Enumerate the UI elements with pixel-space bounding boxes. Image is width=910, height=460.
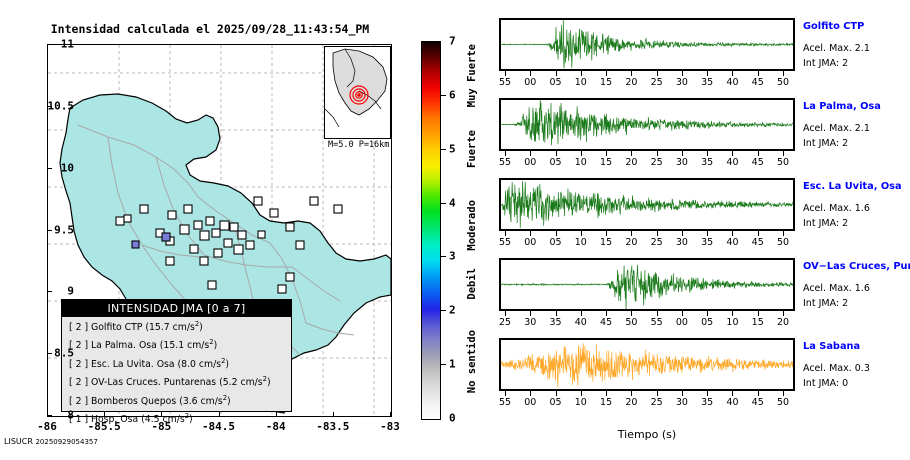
time-tick xyxy=(682,391,683,396)
legend-accel: (8.0 cm/s2) xyxy=(178,359,229,370)
time-tick xyxy=(581,71,582,76)
map-y-tick: 9 xyxy=(14,285,74,298)
time-tick xyxy=(657,151,658,156)
time-tick-label: 50 xyxy=(768,397,798,408)
station-name-label: OV−Las Cruces, Puntar xyxy=(803,261,910,272)
time-tick xyxy=(682,71,683,76)
legend-row: [ 2 ]Golfito CTP (15.7 cm/s2) xyxy=(62,317,291,335)
colorbar-tick-label: 6 xyxy=(449,88,456,101)
time-tick xyxy=(556,151,557,156)
time-tick xyxy=(783,391,784,396)
time-tick xyxy=(732,391,733,396)
time-tick xyxy=(758,71,759,76)
map-x-tick: -83.5 xyxy=(303,420,363,433)
legend-accel: (15.1 cm/s2) xyxy=(160,340,217,351)
map-x-tick: -86 xyxy=(17,420,77,433)
seismogram-row: 253035404550550005101520OV−Las Cruces, P… xyxy=(490,258,910,338)
time-tick xyxy=(581,391,582,396)
time-tick xyxy=(707,391,708,396)
seismogram-row: 550005101520253035404550Esc. La Uvita, O… xyxy=(490,178,910,258)
y-tick-mark xyxy=(47,291,52,292)
peak-acceleration-label: Acel. Max. 0.3 xyxy=(803,363,870,374)
legend-count: [ 2 ] xyxy=(69,320,91,335)
time-tick xyxy=(505,391,506,396)
seismogram-time-axis: 253035404550550005101520 xyxy=(499,311,795,331)
map-y-tick: 10 xyxy=(14,161,74,174)
colorbar-category: Fuerte xyxy=(466,130,478,168)
map-title: Intensidad calculada el 2025/09/28_11:43… xyxy=(0,22,420,36)
legend-station: Bomberos Quepos xyxy=(91,396,176,407)
colorbar-tick-label: 7 xyxy=(449,35,456,48)
peak-acceleration-label: Acel. Max. 2.1 xyxy=(803,123,870,134)
seismogram-trace-box[interactable] xyxy=(499,338,795,391)
time-tick xyxy=(530,391,531,396)
station-name-label: La Palma, Osa xyxy=(803,101,881,112)
time-tick-label: 50 xyxy=(768,77,798,88)
legend-count: [ 2 ] xyxy=(69,394,91,409)
time-tick xyxy=(556,231,557,236)
time-tick xyxy=(732,311,733,316)
time-tick xyxy=(530,71,531,76)
time-tick xyxy=(581,311,582,316)
time-tick xyxy=(783,231,784,236)
intensity-colorbar xyxy=(421,41,441,420)
time-tick xyxy=(606,311,607,316)
map-y-tick: 10.5 xyxy=(14,99,74,112)
legend-station: La Palma. Osa xyxy=(91,340,157,351)
time-tick xyxy=(682,151,683,156)
time-tick xyxy=(631,151,632,156)
map-x-tick: -84.5 xyxy=(189,420,249,433)
seismogram-trace-box[interactable] xyxy=(499,98,795,151)
seismogram-row: 550005101520253035404550La SabanaAcel. M… xyxy=(490,338,910,418)
time-tick xyxy=(606,151,607,156)
colorbar-tick-label: 4 xyxy=(449,196,456,209)
colorbar-tick-label: 3 xyxy=(449,250,456,263)
seismogram-time-axis: 550005101520253035404550 xyxy=(499,231,795,251)
waveform-svg xyxy=(501,100,793,149)
locator-inset-map xyxy=(324,46,391,139)
time-tick xyxy=(732,231,733,236)
time-tick xyxy=(783,311,784,316)
time-tick xyxy=(505,311,506,316)
x-tick-mark xyxy=(161,412,162,417)
time-tick xyxy=(758,151,759,156)
jma-intensity-label: Int JMA: 2 xyxy=(803,58,848,69)
time-tick xyxy=(707,151,708,156)
footer-credit: LISUCR 20250929054357 xyxy=(4,437,98,446)
x-tick-mark xyxy=(390,412,391,417)
time-tick xyxy=(758,311,759,316)
y-tick-mark xyxy=(47,353,52,354)
colorbar-category: Moderado xyxy=(466,200,478,251)
time-tick xyxy=(758,231,759,236)
time-tick xyxy=(783,71,784,76)
jma-intensity-label: Int JMA: 0 xyxy=(803,378,848,389)
legend-accel: (3.6 cm/s2) xyxy=(179,396,230,407)
colorbar-tick xyxy=(441,364,446,365)
colorbar-tick xyxy=(441,310,446,311)
colorbar-tick xyxy=(441,203,446,204)
x-tick-mark xyxy=(47,412,48,417)
epicenter-marker xyxy=(350,86,368,104)
seismogram-trace-box[interactable] xyxy=(499,18,795,71)
peak-acceleration-label: Acel. Max. 2.1 xyxy=(803,43,870,54)
time-tick xyxy=(556,311,557,316)
colorbar-tick xyxy=(441,256,446,257)
time-tick xyxy=(631,391,632,396)
jma-intensity-label: Int JMA: 2 xyxy=(803,298,848,309)
seismogram-row: 550005101520253035404550La Palma, OsaAce… xyxy=(490,98,910,178)
time-tick xyxy=(631,231,632,236)
waveform-svg xyxy=(501,20,793,69)
time-tick xyxy=(530,311,531,316)
x-tick-mark xyxy=(219,412,220,417)
time-tick xyxy=(505,231,506,236)
time-tick xyxy=(581,151,582,156)
legend-station: OV-Las Cruces. Puntarenas xyxy=(91,377,216,388)
map-x-tick: -83 xyxy=(360,420,420,433)
colorbar-tick xyxy=(441,95,446,96)
peak-acceleration-label: Acel. Max. 1.6 xyxy=(803,283,870,294)
waveform-svg xyxy=(501,180,793,229)
colorbar-category: Muy Fuerte xyxy=(466,44,478,107)
map-y-tick: 8.5 xyxy=(14,347,74,360)
time-tick xyxy=(732,151,733,156)
time-tick xyxy=(707,231,708,236)
y-tick-mark xyxy=(47,230,52,231)
legend-row-list: [ 2 ]Golfito CTP (15.7 cm/s2)[ 2 ]La Pal… xyxy=(62,317,291,427)
seismogram-time-axis: 550005101520253035404550 xyxy=(499,71,795,91)
seismogram-trace-box[interactable] xyxy=(499,258,795,311)
x-tick-mark xyxy=(333,412,334,417)
legend-title: INTENSIDAD JMA [0 a 7] xyxy=(62,300,291,317)
station-name-label: La Sabana xyxy=(803,341,860,352)
time-tick xyxy=(505,151,506,156)
seismogram-trace-box[interactable] xyxy=(499,178,795,231)
time-tick xyxy=(530,151,531,156)
peak-acceleration-label: Acel. Max. 1.6 xyxy=(803,203,870,214)
intensity-legend: INTENSIDAD JMA [0 a 7] [ 2 ]Golfito CTP … xyxy=(61,299,292,412)
event-magnitude-label: M=5.0 P=16km xyxy=(328,140,389,150)
legend-accel: (15.7 cm/s2) xyxy=(145,322,202,333)
legend-row: [ 2 ]La Palma. Osa (15.1 cm/s2) xyxy=(62,335,291,353)
colorbar-tick-label: 2 xyxy=(449,304,456,317)
map-panel: Intensidad calculada el 2025/09/28_11:43… xyxy=(0,0,470,460)
time-tick xyxy=(657,391,658,396)
seismogram-panel: 550005101520253035404550Golfito CTPAcel.… xyxy=(490,0,910,460)
map-y-tick: 11 xyxy=(14,38,74,51)
map-x-tick: -84 xyxy=(246,420,306,433)
legend-accel: (5.2 cm/s2) xyxy=(219,377,270,388)
colorbar-tick-label: 5 xyxy=(449,142,456,155)
x-tick-mark xyxy=(104,412,105,417)
time-tick xyxy=(783,151,784,156)
time-tick xyxy=(707,71,708,76)
legend-station: Golfito CTP xyxy=(91,322,142,333)
station-name-label: Golfito CTP xyxy=(803,21,864,32)
time-tick xyxy=(556,391,557,396)
time-tick-label: 20 xyxy=(768,317,798,328)
y-tick-mark xyxy=(47,44,52,45)
legend-row: [ 2 ]Esc. La Uvita. Osa (8.0 cm/s2) xyxy=(62,354,291,372)
colorbar-tick-label: 1 xyxy=(449,358,456,371)
inset-svg xyxy=(325,47,390,138)
time-tick xyxy=(657,231,658,236)
time-tick xyxy=(530,231,531,236)
waveform-svg xyxy=(501,340,793,389)
time-tick xyxy=(505,71,506,76)
time-tick xyxy=(631,71,632,76)
seismogram-row: 550005101520253035404550Golfito CTPAcel.… xyxy=(490,18,910,98)
time-tick xyxy=(581,231,582,236)
seismogram-time-axis: 550005101520253035404550 xyxy=(499,391,795,411)
y-tick-mark xyxy=(47,168,52,169)
legend-row: [ 2 ]OV-Las Cruces. Puntarenas (5.2 cm/s… xyxy=(62,372,291,390)
x-tick-mark xyxy=(276,412,277,417)
time-tick xyxy=(682,231,683,236)
map-x-tick: -85.5 xyxy=(74,420,134,433)
timestamp-label: 20250929054357 xyxy=(35,438,97,446)
legend-count: [ 2 ] xyxy=(69,375,91,390)
waveform-svg xyxy=(501,260,793,309)
agency-label: LISUCR xyxy=(4,437,33,446)
time-tick-label: 50 xyxy=(768,237,798,248)
time-tick xyxy=(606,391,607,396)
time-tick xyxy=(682,311,683,316)
colorbar-category: No sentido xyxy=(466,330,478,393)
time-tick xyxy=(758,391,759,396)
time-tick xyxy=(631,311,632,316)
map-x-tick: -85 xyxy=(131,420,191,433)
map-y-tick: 9.5 xyxy=(14,223,74,236)
jma-intensity-label: Int JMA: 2 xyxy=(803,138,848,149)
legend-station: Esc. La Uvita. Osa xyxy=(91,359,175,370)
time-tick xyxy=(657,71,658,76)
time-tick xyxy=(556,71,557,76)
station-name-label: Esc. La Uvita, Osa xyxy=(803,181,902,192)
time-tick xyxy=(606,71,607,76)
jma-intensity-label: Int JMA: 2 xyxy=(803,218,848,229)
y-tick-mark xyxy=(47,106,52,107)
time-tick-label: 50 xyxy=(768,157,798,168)
time-tick xyxy=(606,231,607,236)
colorbar-category: Debil xyxy=(466,268,478,300)
legend-row: [ 2 ]Bomberos Quepos (3.6 cm/s2) xyxy=(62,391,291,409)
colorbar-tick-label: 0 xyxy=(449,412,456,425)
time-tick xyxy=(657,311,658,316)
colorbar-tick xyxy=(441,149,446,150)
time-tick xyxy=(732,71,733,76)
time-axis-label: Tiempo (s) xyxy=(499,428,795,441)
time-tick xyxy=(707,311,708,316)
seismogram-time-axis: 550005101520253035404550 xyxy=(499,151,795,171)
